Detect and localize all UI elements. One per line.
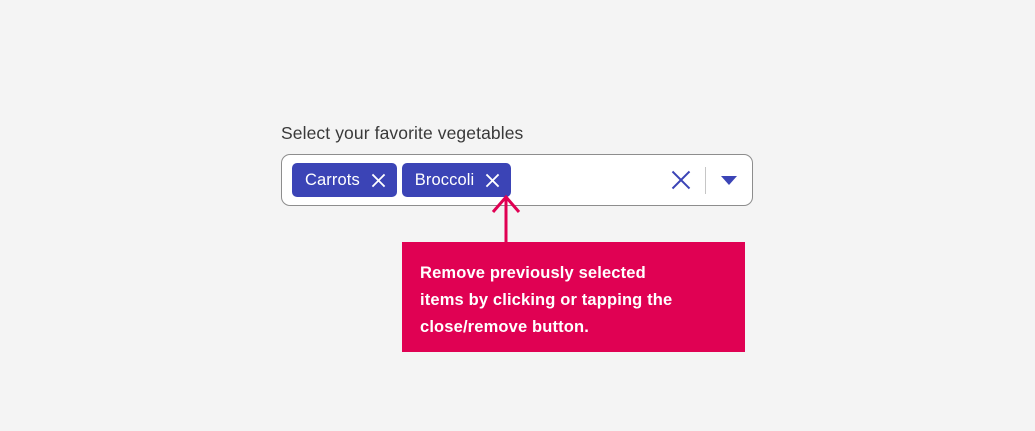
screenshot-canvas: Select your favorite vegetables Carrots … [0,0,1035,431]
tag-label: Carrots [305,171,360,190]
annotation-callout: Remove previously selected items by clic… [402,242,745,352]
clear-all-button[interactable] [666,165,696,195]
selected-tags-list: Carrots Broccoli [292,163,511,197]
close-icon[interactable] [485,173,500,188]
chevron-down-icon [721,176,737,185]
tag-broccoli[interactable]: Broccoli [402,163,512,197]
annotation-line-2: items by clicking or tapping the [420,287,723,314]
dropdown-toggle-button[interactable] [706,157,752,203]
tag-carrots[interactable]: Carrots [292,163,397,197]
annotation-line-3: close/remove button. [420,314,723,341]
field-label: Select your favorite vegetables [281,121,523,145]
close-icon[interactable] [371,173,386,188]
annotation-line-1: Remove previously selected [420,260,723,287]
tag-label: Broccoli [415,171,475,190]
arrow-up-icon [489,193,523,245]
close-icon [670,169,692,191]
